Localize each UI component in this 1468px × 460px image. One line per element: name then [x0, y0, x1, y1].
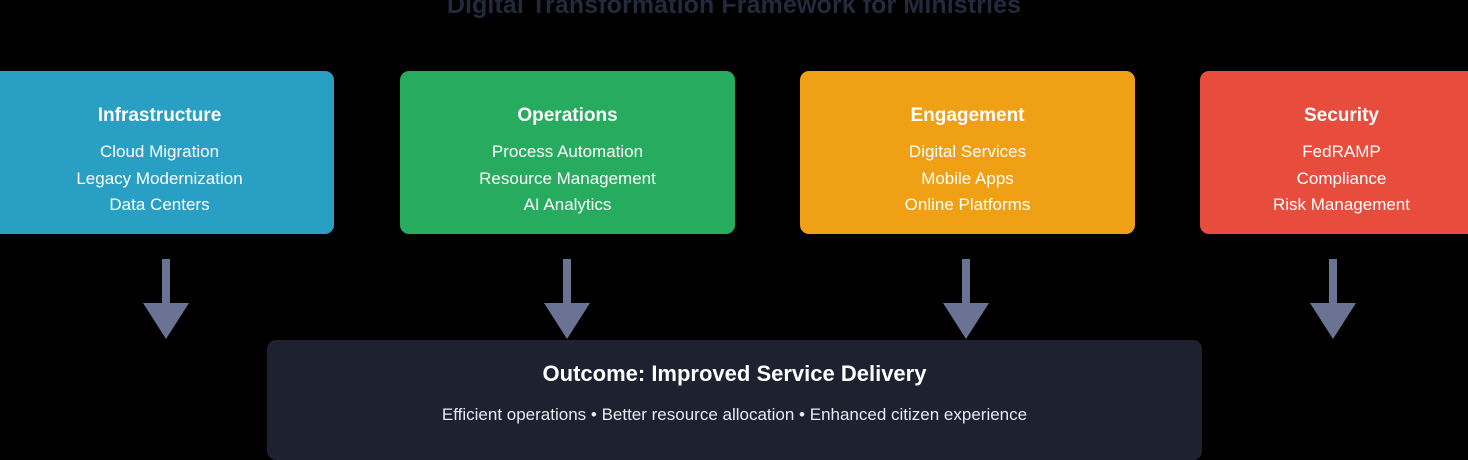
pillar-item: Online Platforms	[800, 192, 1135, 219]
outcome-subtitle: Efficient operations • Better resource a…	[267, 404, 1202, 426]
pillar-card[interactable]: InfrastructureCloud MigrationLegacy Mode…	[0, 71, 334, 234]
pillar-item: Digital Services	[800, 139, 1135, 166]
pillar-title: Engagement	[800, 105, 1135, 127]
pillar-item: Data Centers	[0, 192, 334, 219]
pillar-item: Compliance	[1200, 166, 1468, 193]
page-title: Digital Transformation Framework for Min…	[0, 0, 1468, 20]
pillar-item: FedRAMP	[1200, 139, 1468, 166]
pillar-item: Risk Management	[1200, 192, 1468, 219]
pillar-item: Resource Management	[400, 166, 735, 193]
pillar-card[interactable]: EngagementDigital ServicesMobile AppsOnl…	[800, 71, 1135, 234]
pillar-card[interactable]: SecurityFedRAMPComplianceRisk Management	[1200, 71, 1468, 234]
outcome-title: Outcome: Improved Service Delivery	[267, 360, 1202, 388]
arrow-security-to-outcome	[1309, 259, 1357, 339]
pillar-title: Operations	[400, 105, 735, 127]
pillar-item: Cloud Migration	[0, 139, 334, 166]
pillar-card-row: InfrastructureCloud MigrationLegacy Mode…	[0, 71, 1468, 234]
pillar-title: Security	[1200, 105, 1468, 127]
pillar-card[interactable]: OperationsProcess AutomationResource Man…	[400, 71, 735, 234]
outcome-banner: Outcome: Improved Service Delivery Effic…	[267, 340, 1202, 460]
arrow-infrastructure-to-outcome	[142, 259, 190, 339]
pillar-item: Process Automation	[400, 139, 735, 166]
pillar-item: Legacy Modernization	[0, 166, 334, 193]
arrow-engagement-to-outcome	[942, 259, 990, 339]
pillar-item: Mobile Apps	[800, 166, 1135, 193]
arrow-operations-to-outcome	[543, 259, 591, 339]
pillar-title: Infrastructure	[0, 105, 334, 127]
pillar-item: AI Analytics	[400, 192, 735, 219]
